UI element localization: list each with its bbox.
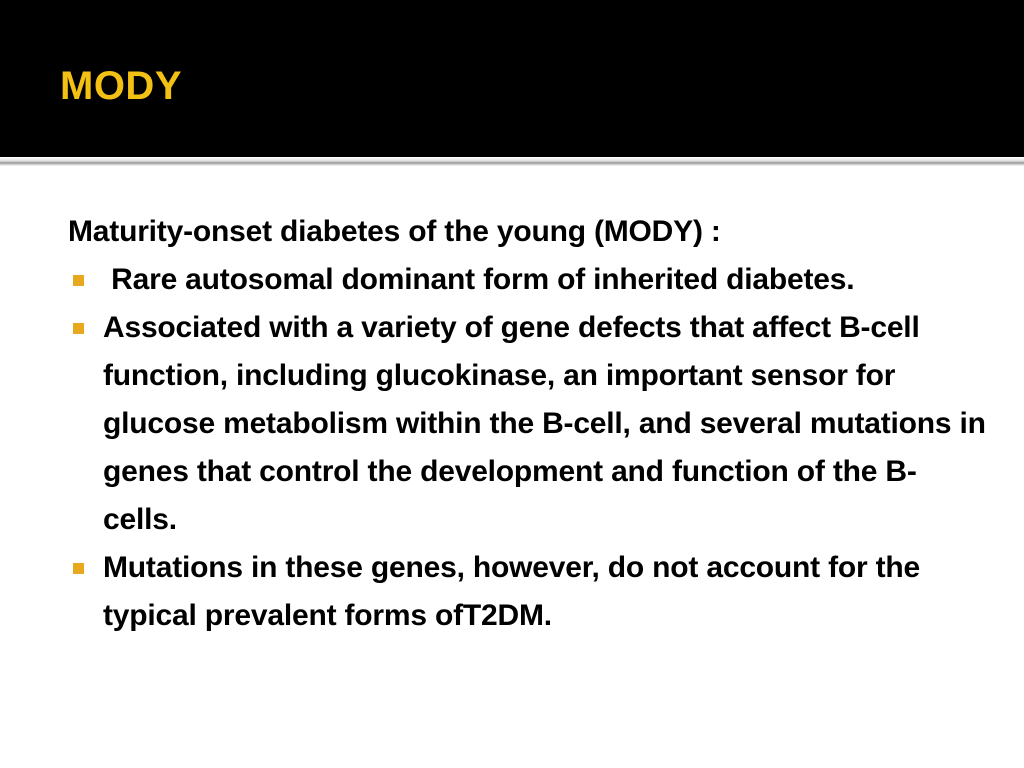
list-item: Mutations in these genes, however, do no… bbox=[68, 544, 988, 640]
slide: MODY Maturity-onset diabetes of the youn… bbox=[0, 0, 1024, 768]
body-lede: Maturity-onset diabetes of the young (MO… bbox=[68, 208, 988, 256]
list-item: Associated with a variety of gene defect… bbox=[68, 304, 988, 544]
slide-body: Maturity-onset diabetes of the young (MO… bbox=[0, 166, 1024, 768]
content-block: Maturity-onset diabetes of the young (MO… bbox=[68, 208, 988, 640]
list-item-text: Rare autosomal dominant form of inherite… bbox=[103, 256, 988, 304]
list-item-text: Associated with a variety of gene defect… bbox=[103, 304, 988, 544]
slide-title: MODY bbox=[60, 66, 182, 106]
list-item: Rare autosomal dominant form of inherite… bbox=[68, 256, 988, 304]
square-bullet-icon bbox=[73, 563, 84, 574]
square-bullet-icon bbox=[73, 275, 84, 286]
header-divider bbox=[0, 157, 1024, 166]
bullet-list: Rare autosomal dominant form of inherite… bbox=[68, 256, 988, 640]
list-item-text: Mutations in these genes, however, do no… bbox=[103, 544, 988, 640]
square-bullet-icon bbox=[73, 323, 84, 334]
